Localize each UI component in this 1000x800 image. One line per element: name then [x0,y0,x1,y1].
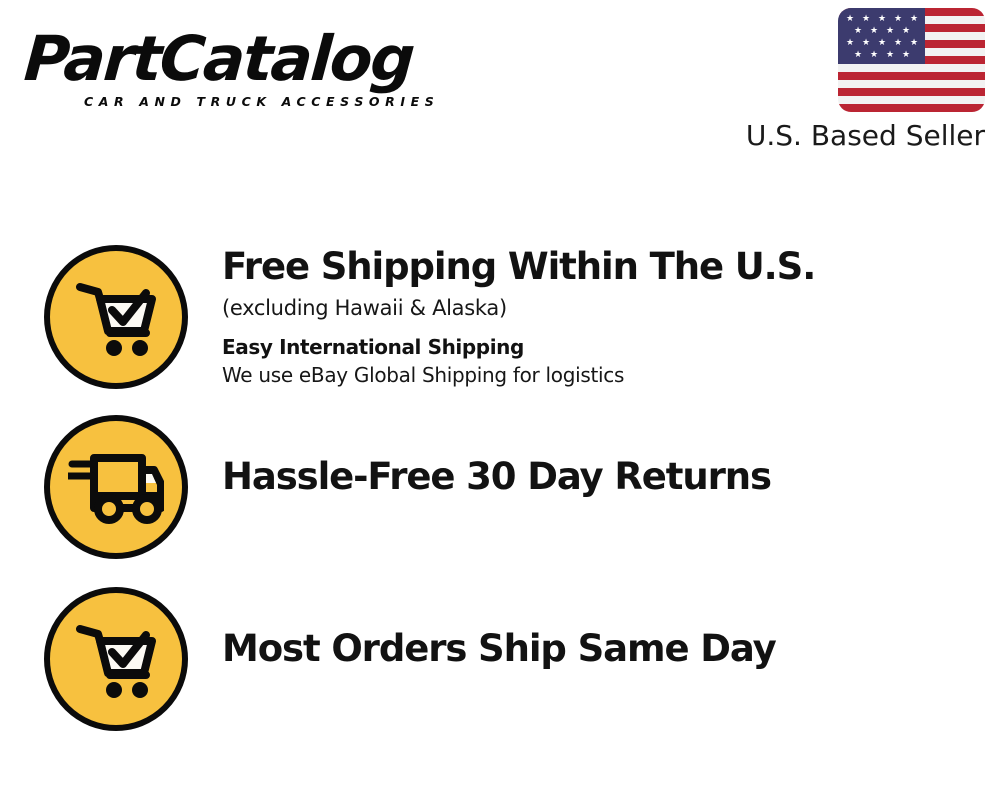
feature-text-block: Hassle-Free 30 Day Returns [222,455,982,499]
feature-row: Most Orders Ship Same Day [0,587,1000,747]
us-flag-icon: ★ ★ ★ ★ ★ ★ ★ ★ ★ ★ ★ ★ ★ ★ ★ ★ ★ ★ [838,8,985,112]
brand-logo[interactable]: PartCatalog CAR AND TRUCK ACCESSORIES [22,24,492,116]
feature-subheading: Easy International Shipping [222,333,982,361]
feature-subtext: We use eBay Global Shipping for logistic… [222,361,982,389]
feature-text-block: Free Shipping Within The U.S. (excluding… [222,245,982,389]
feature-heading: Free Shipping Within The U.S. [222,245,982,289]
feature-text-block: Most Orders Ship Same Day [222,627,982,671]
brand-wordmark: PartCatalog [22,24,497,94]
brand-tagline: CAR AND TRUCK ACCESSORIES [84,94,439,109]
feature-row: Free Shipping Within The U.S. (excluding… [0,245,1000,405]
feature-row: Hassle-Free 30 Day Returns [0,415,1000,575]
us-based-seller-label: U.S. Based Seller [715,119,985,152]
feature-note: (excluding Hawaii & Alaska) [222,293,982,323]
delivery-truck-icon [44,415,188,559]
feature-heading: Hassle-Free 30 Day Returns [222,455,982,499]
shopping-cart-check-icon [44,587,188,731]
us-based-seller-badge: ★ ★ ★ ★ ★ ★ ★ ★ ★ ★ ★ ★ ★ ★ ★ ★ ★ ★ U.S.… [715,8,985,152]
shopping-cart-check-icon [44,245,188,389]
page-header: PartCatalog CAR AND TRUCK ACCESSORIES ★ … [0,0,1000,165]
feature-heading: Most Orders Ship Same Day [222,627,982,671]
